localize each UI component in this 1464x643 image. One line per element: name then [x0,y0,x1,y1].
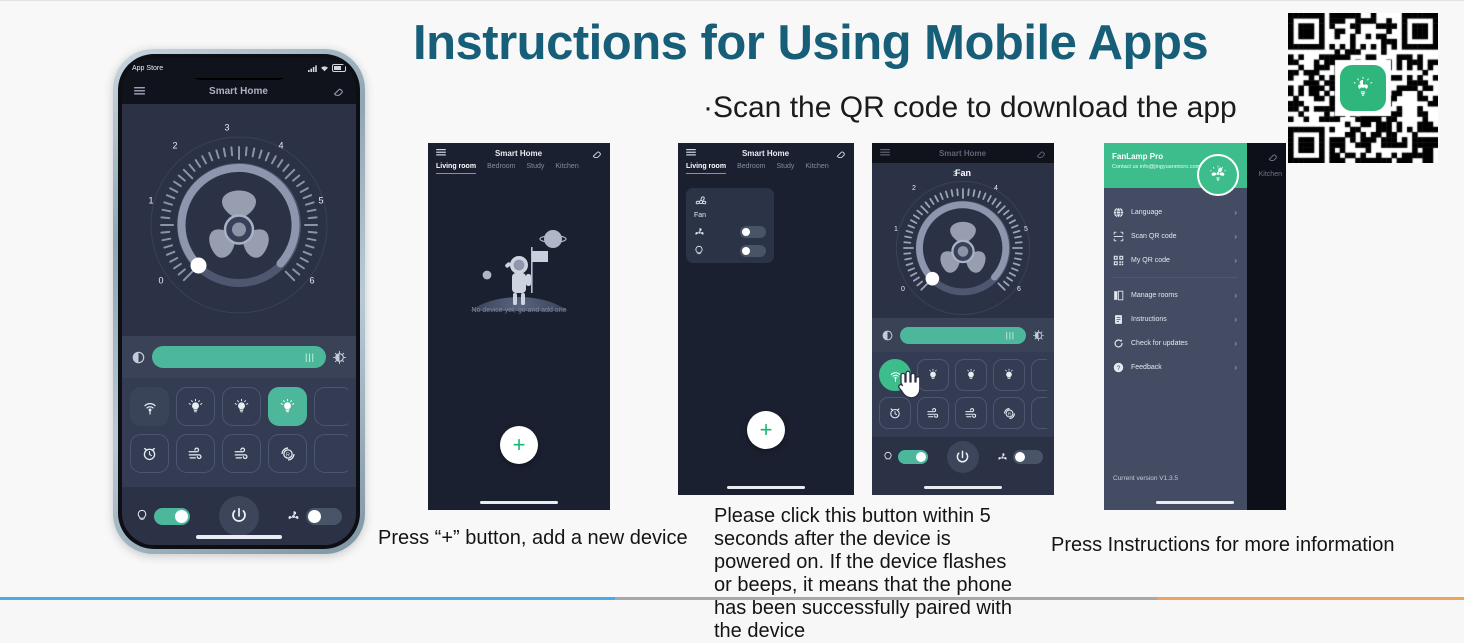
shot2-header: Smart Home [678,143,854,163]
tab-bedroom[interactable]: Bedroom [737,163,765,170]
device-fan-row [694,226,766,238]
brightness-slider-row[interactable]: ||| [872,318,1054,352]
add-device-button[interactable]: + [500,426,538,464]
quick-action-row-1 [130,387,348,426]
button-bulb-icon-1[interactable] [917,359,949,391]
device-name: Fan [694,212,766,219]
fan-speed-dial[interactable]: 3 2 4 1 5 0 6 [122,104,356,336]
svg-text:R: R [1007,411,1011,416]
help-icon: ? [1113,362,1124,373]
fan-lamp-logo-icon [1197,154,1239,196]
dial-number-4: 4 [994,185,998,192]
eraser-icon[interactable] [591,148,602,159]
wifi-icon [320,65,329,72]
button-wifi-signal-icon[interactable] [130,387,169,426]
button-wind-icon-1[interactable] [917,397,949,429]
shot1-header: Smart Home [428,143,610,163]
brightness-high-icon [1033,330,1044,341]
menu-item-label: Language [1131,209,1162,216]
quick-action-row-2: R [130,434,348,473]
astronaut-illustration [428,201,610,311]
caption-pairing: Please click this button within 5 second… [714,505,1026,643]
button-wind-icon-1[interactable] [176,434,215,473]
screenshot-add-device: Smart Home Living room Bedroom Study Kit… [428,143,610,510]
fan-lamp-logo-icon [1340,65,1386,111]
globe-icon [1113,207,1124,218]
button-bulb-icon-1[interactable] [176,387,215,426]
button-bulb-icon-3[interactable] [993,359,1025,391]
tab-study[interactable]: Study [526,163,544,170]
device-lamp-toggle[interactable] [740,245,766,257]
pairing-button[interactable] [879,359,911,391]
chevron-right-icon: › [1234,315,1237,324]
dial-number-3: 3 [953,171,957,178]
app-title: Smart Home [209,86,268,97]
screenshot-fan-control: Smart Home Fan 3 [872,143,1054,495]
menu-header: FanLamp Pro Contact us info@jingyuanmicr… [1104,143,1247,188]
button-partial-icon-2[interactable] [314,434,348,473]
dial-number-6: 6 [1017,286,1021,293]
home-indicator [480,501,558,504]
quick-action-grid: R [872,352,1054,437]
menu-item-instructions[interactable]: Instructions › [1104,307,1247,331]
chevron-right-icon: › [1234,339,1237,348]
power-button[interactable] [219,496,259,536]
tab-kitchen[interactable]: Kitchen [805,163,828,170]
shot3-device-title: Fan [872,168,1054,178]
shot2-title: Smart Home [742,149,789,158]
instruction-poster: Instructions for Using Mobile Apps ·Scan… [0,0,1464,600]
phone-mockup-main: App Store Smart Home [113,49,365,554]
home-indicator [1156,501,1234,504]
dial-number-1: 1 [894,226,898,233]
menu-item-my-qr-code[interactable]: My QR code › [1104,248,1247,272]
rooms-icon [1113,290,1124,301]
hamburger-menu-icon[interactable] [134,87,145,96]
menu-item-label: Check for updates [1131,340,1188,347]
screenshot-device-list: Smart Home Living room Bedroom Study Kit… [678,143,854,495]
app-header: Smart Home [122,78,356,104]
fan-small-icon [287,510,300,523]
device-bottom-bar [872,437,1054,477]
tab-living-room[interactable]: Living room [686,163,726,170]
quick-action-grid: R [122,378,356,487]
fan-small-icon [694,227,705,238]
button-alarm-clock-icon[interactable] [879,397,911,429]
home-indicator [924,486,1002,489]
tab-study[interactable]: Study [776,163,794,170]
caption-instructions: Press Instructions for more information [1051,534,1451,557]
brightness-slider[interactable]: ||| [152,346,326,368]
dial-number-4: 4 [279,140,284,150]
page-subtitle: ·Scan the QR code to download the app [703,91,1237,125]
quick-action-row-2: R [879,397,1047,429]
brightness-low-icon [132,351,145,364]
tab-kitchen[interactable]: Kitchen [1259,171,1282,178]
menu-item-label: Instructions [1131,316,1167,323]
shot3-title: Smart Home [939,149,986,158]
button-wind-icon-2[interactable] [222,434,261,473]
status-carrier: App Store [132,65,163,72]
slider-grip[interactable]: ||| [1006,331,1015,340]
button-bulb-icon-2[interactable] [222,387,261,426]
lamp-toggle[interactable] [154,508,190,525]
dial-number-3: 3 [225,122,230,132]
menu-item-manage-rooms[interactable]: Manage rooms › [1104,283,1247,307]
menu-item-check-for-updates[interactable]: Check for updates › [1104,331,1247,355]
dial-number-5: 5 [1024,226,1028,233]
svg-text:R: R [286,452,290,458]
empty-state-text: No device yet, go and add one [428,307,610,314]
menu-item-language[interactable]: Language › [1104,200,1247,224]
eraser-icon[interactable] [835,148,846,159]
lamp-toggle[interactable] [898,450,928,464]
eraser-icon[interactable] [1035,148,1046,159]
chevron-right-icon: › [1234,232,1237,241]
menu-divider [1113,277,1238,278]
brightness-slider-row[interactable]: ||| [122,336,356,378]
shot3-header: Smart Home [872,143,1054,163]
fan-blades-icon [694,195,766,209]
chevron-right-icon: › [1234,208,1237,217]
dial-number-2: 2 [173,140,178,150]
button-bulb-icon-3-active[interactable] [268,387,307,426]
button-partial-icon-1[interactable] [1031,359,1047,391]
refresh-icon [1113,338,1124,349]
menu-item-label: Manage rooms [1131,292,1178,299]
hamburger-menu-icon[interactable] [880,149,890,157]
qr-icon [1113,255,1124,266]
hamburger-menu-icon[interactable] [686,149,696,157]
document-icon [1113,314,1124,325]
scan-icon [1113,231,1124,242]
menu-item-label: Scan QR code [1131,233,1177,240]
device-card-fan[interactable]: Fan [686,188,774,263]
button-alarm-clock-icon[interactable] [130,434,169,473]
status-bar: App Store [122,58,356,78]
menu-item-feedback[interactable]: ? Feedback › [1104,355,1247,379]
tab-kitchen[interactable]: Kitchen [555,163,578,170]
menu-item-label: My QR code [1131,257,1170,264]
chevron-right-icon: › [1234,291,1237,300]
bulb-outline-icon [883,451,893,463]
fan-speed-dial[interactable]: 3 2 4 1 5 0 6 [872,178,1054,318]
svg-text:?: ? [1117,364,1121,371]
hamburger-menu-icon[interactable] [436,149,446,157]
menu-item-label: Feedback [1131,364,1162,371]
quick-action-row-1 [879,359,1047,391]
dial-number-2: 2 [912,185,916,192]
page-title: Instructions for Using Mobile Apps [413,15,1213,71]
screenshot-settings-menu: Kitchen FanLamp Pro Contact us info@jing… [1104,143,1286,510]
button-reverse-icon[interactable]: R [993,397,1025,429]
power-button[interactable] [947,441,979,473]
button-partial-icon-1[interactable] [314,387,348,426]
fan-toggle[interactable] [1013,450,1043,464]
add-device-button[interactable]: + [747,411,785,449]
tab-living-room[interactable]: Living room [436,163,476,170]
fan-small-icon [997,452,1008,463]
chevron-right-icon: › [1234,363,1237,372]
brightness-high-icon [333,351,346,364]
button-partial-icon-2[interactable] [1031,397,1047,429]
dial-number-0: 0 [159,275,164,285]
dial-number-5: 5 [319,195,324,205]
bulb-outline-icon [136,509,148,523]
device-fan-toggle[interactable] [740,226,766,238]
device-lamp-row [694,245,766,257]
button-bulb-icon-2[interactable] [955,359,987,391]
menu-item-scan-qr-code[interactable]: Scan QR code › [1104,224,1247,248]
caption-add-device: Press “+” button, add a new device [378,527,688,550]
home-indicator [727,486,805,489]
fan-toggle[interactable] [306,508,342,525]
shot2-room-tabs: Living room Bedroom Study Kitchen [678,163,854,181]
eraser-icon[interactable] [1267,151,1278,162]
app-download-qr-code [1288,13,1438,163]
shot1-room-tabs: Living room Bedroom Study Kitchen [428,163,610,181]
app-version-label: Current version V1.3.5 [1113,475,1178,482]
signal-icon [308,65,317,72]
dial-number-1: 1 [149,195,154,205]
brightness-slider[interactable]: ||| [900,327,1026,344]
button-reverse-icon[interactable]: R [268,434,307,473]
shot1-title: Smart Home [495,149,542,158]
dial-number-6: 6 [310,275,315,285]
bulb-outline-icon [694,245,704,257]
home-indicator [196,535,282,539]
eraser-icon[interactable] [332,85,344,97]
slider-grip[interactable]: ||| [305,352,315,362]
dial-number-0: 0 [901,286,905,293]
settings-drawer: FanLamp Pro Contact us info@jingyuanmicr… [1104,143,1247,510]
chevron-right-icon: › [1234,256,1237,265]
tab-bedroom[interactable]: Bedroom [487,163,515,170]
button-wind-icon-2[interactable] [955,397,987,429]
battery-icon [332,64,346,72]
brightness-low-icon [882,330,893,341]
